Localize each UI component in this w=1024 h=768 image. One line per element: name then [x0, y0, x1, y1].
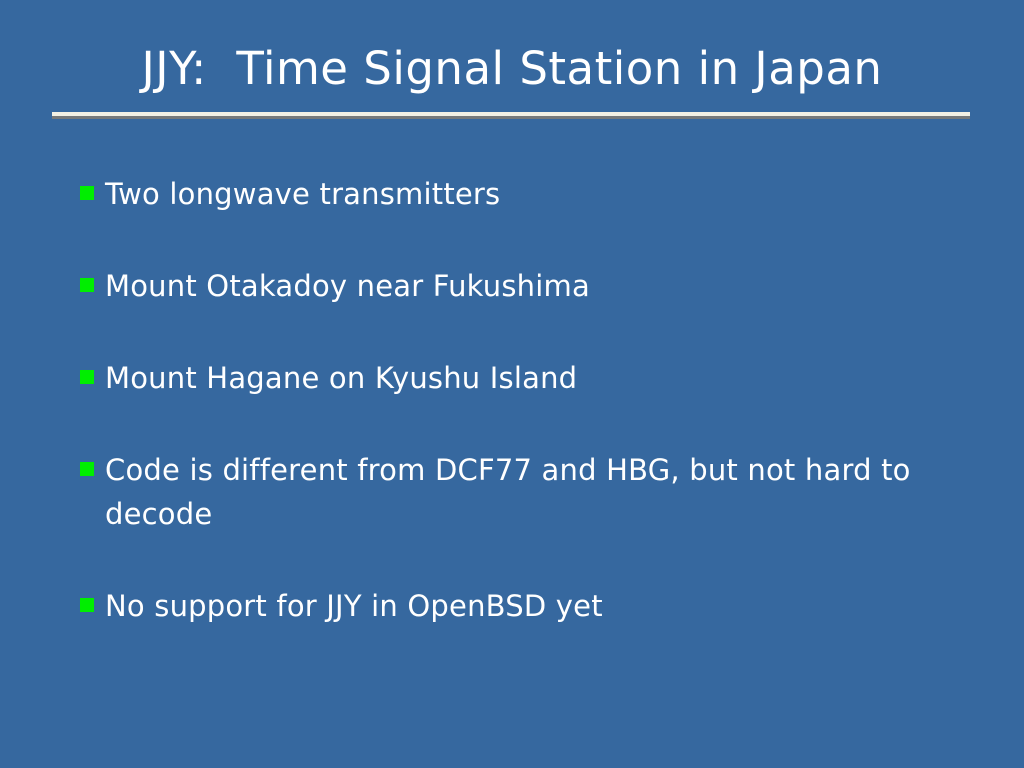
list-item: No support for JJY in OpenBSD yet: [80, 584, 980, 628]
square-bullet-icon: [80, 186, 94, 200]
list-item-label: Code is different from DCF77 and HBG, bu…: [105, 448, 980, 536]
list-item-label: Two longwave transmitters: [105, 172, 980, 216]
square-bullet-icon: [80, 370, 94, 384]
square-bullet-icon: [80, 462, 94, 476]
list-item: Mount Hagane on Kyushu Island: [80, 356, 980, 400]
list-item-label: Mount Otakadoy near Fukushima: [105, 264, 980, 308]
list-item-label: Mount Hagane on Kyushu Island: [105, 356, 980, 400]
bullet-list: Two longwave transmitters Mount Otakadoy…: [80, 172, 980, 628]
slide-title-block: JJY: Time Signal Station in Japan: [0, 46, 1024, 91]
square-bullet-icon: [80, 598, 94, 612]
list-item: Code is different from DCF77 and HBG, bu…: [80, 448, 980, 536]
list-item-label: No support for JJY in OpenBSD yet: [105, 584, 980, 628]
list-item: Two longwave transmitters: [80, 172, 980, 216]
square-bullet-icon: [80, 278, 94, 292]
presentation-slide: JJY: Time Signal Station in Japan Two lo…: [0, 0, 1024, 768]
title-divider-shadow: [52, 116, 970, 119]
list-item: Mount Otakadoy near Fukushima: [80, 264, 980, 308]
page-title: JJY: Time Signal Station in Japan: [0, 46, 1024, 91]
